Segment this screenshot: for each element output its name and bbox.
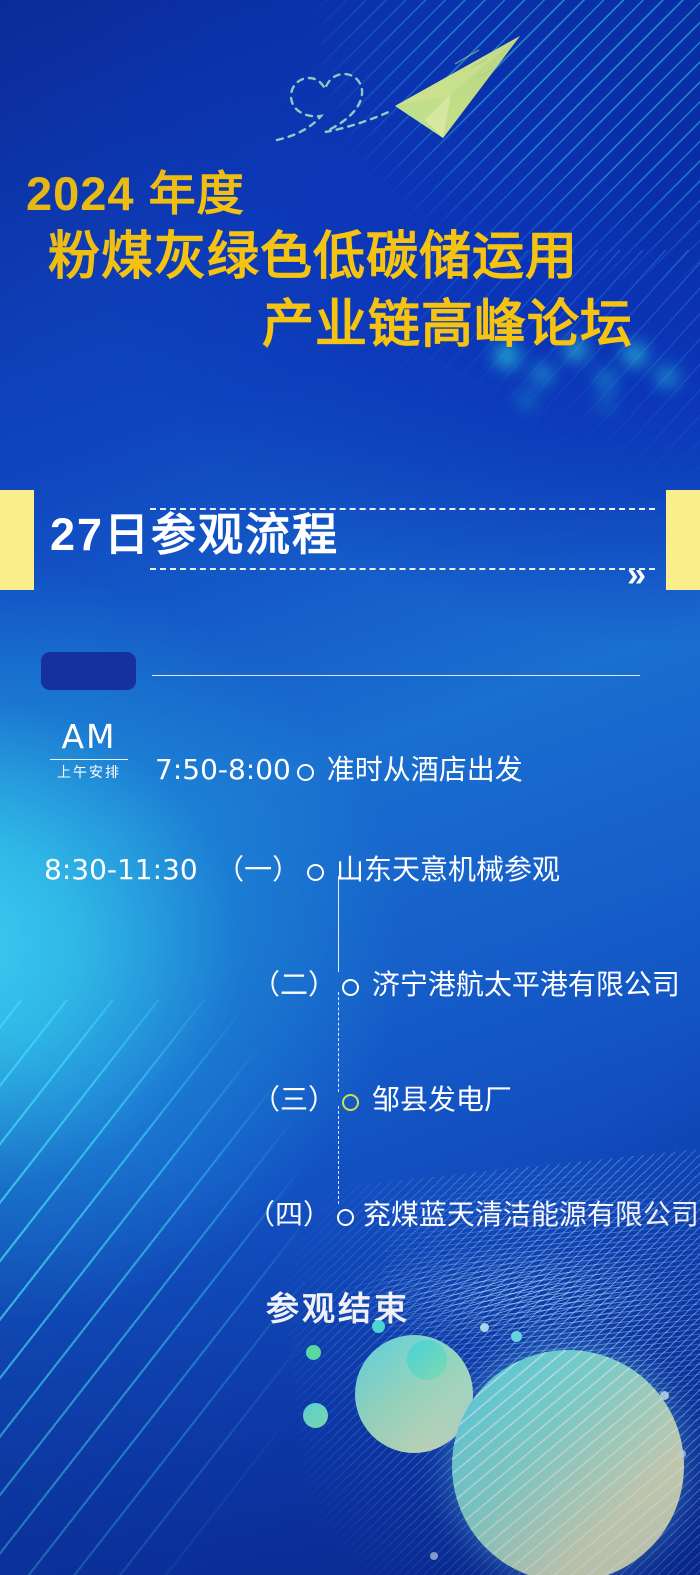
schedule-time: 8:30-11:30 — [44, 853, 198, 886]
badge-divider-line — [152, 675, 640, 676]
title-line-2: 粉煤灰绿色低碳储运用 — [0, 227, 700, 288]
schedule-label: 邹县发电厂 — [372, 1084, 512, 1115]
paper-plane-icon — [265, 28, 555, 158]
schedule-marker-icon — [342, 1094, 359, 1111]
bokeh-glow-dot — [598, 372, 614, 388]
schedule-row: （三） 邹县发电厂 — [252, 1078, 512, 1118]
schedule-section: AM 上午安排 7:50-8:00 准时从酒店出发 8:30-11:30 （一）… — [0, 648, 700, 1348]
yellow-bar-right — [666, 490, 700, 590]
decor-dot — [480, 1323, 489, 1332]
period-block: AM 上午安排 — [46, 720, 132, 779]
decor-dot — [306, 1345, 321, 1360]
schedule-label: 兖煤蓝天清洁能源有限公司 — [363, 1199, 699, 1230]
timeline-connector — [338, 992, 339, 1092]
schedule-index: （一） — [216, 854, 300, 885]
decor-dot — [430, 1552, 438, 1560]
schedule-index: （四） — [247, 1199, 331, 1230]
decor-dot — [511, 1331, 522, 1342]
schedule-label: 准时从酒店出发 — [327, 754, 523, 785]
period-divider — [50, 759, 128, 760]
schedule-marker-icon — [307, 864, 324, 881]
schedule-index: （二） — [252, 969, 336, 1000]
bokeh-glow-dot — [520, 392, 534, 406]
decor-circle-large — [452, 1350, 684, 1575]
decor-dot — [660, 1391, 669, 1400]
poster-root: 2024 年度 粉煤灰绿色低碳储运用 产业链高峰论坛 27日参观流程 » AM … — [0, 0, 700, 1575]
double-chevron-icon: » — [627, 558, 640, 592]
timeline-connector — [338, 876, 339, 972]
schedule-row: （二） 济宁港航太平港有限公司 — [252, 963, 680, 1003]
schedule-label: 山东天意机械参观 — [336, 854, 560, 885]
schedule-time: 7:50-8:00 — [155, 753, 291, 786]
schedule-row: 8:30-11:30 （一） 山东天意机械参观 — [44, 848, 560, 888]
section-heading: 27日参观流程 — [50, 498, 339, 563]
paper-plane-decoration — [265, 28, 555, 158]
poster-title: 2024 年度 粉煤灰绿色低碳储运用 产业链高峰论坛 — [0, 166, 700, 356]
decor-dot — [372, 1320, 385, 1333]
decor-circle-small — [407, 1340, 447, 1380]
title-line-3: 产业链高峰论坛 — [0, 295, 700, 356]
bokeh-glow-dot — [534, 366, 551, 383]
schedule-label: 济宁港航太平港有限公司 — [372, 969, 680, 1000]
bokeh-glow-dot — [658, 368, 676, 386]
title-line-1: 2024 年度 — [0, 166, 700, 221]
bokeh-glow-dot — [600, 396, 613, 409]
badge-row — [0, 648, 700, 696]
schedule-row: 7:50-8:00 准时从酒店出发 — [155, 748, 523, 788]
period-label: AM — [46, 720, 132, 753]
timeline-connector — [338, 1106, 339, 1204]
schedule-marker-icon — [337, 1209, 354, 1226]
decor-dot — [303, 1403, 328, 1428]
decor-dot — [678, 1450, 686, 1458]
end-text: 参观结束 — [266, 1282, 410, 1330]
yellow-bar-left — [0, 490, 34, 590]
period-sublabel: 上午安排 — [46, 765, 132, 779]
blue-badge — [41, 652, 136, 690]
schedule-marker-icon — [342, 979, 359, 996]
section-header: 27日参观流程 » — [0, 490, 700, 598]
schedule-index: （三） — [252, 1084, 336, 1115]
schedule-marker-icon — [297, 764, 314, 781]
schedule-row: （四） 兖煤蓝天清洁能源有限公司 — [247, 1193, 699, 1233]
